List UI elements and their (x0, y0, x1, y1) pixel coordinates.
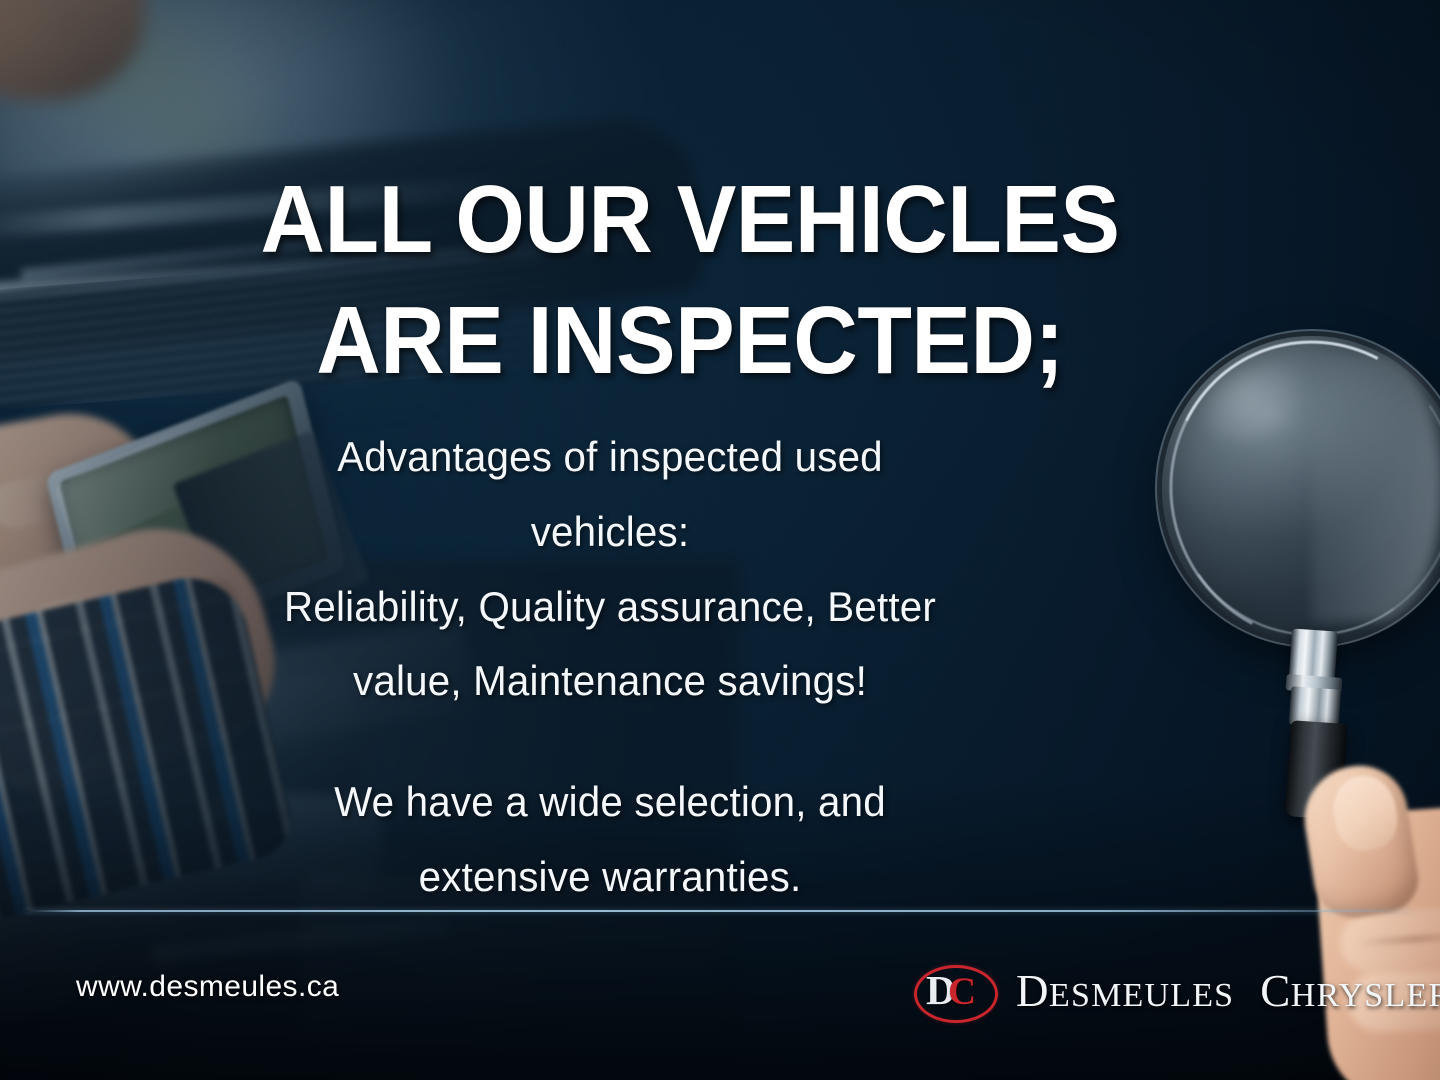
dealership-name: D ESMEULES C HRYSLER (1016, 965, 1440, 1017)
slide-content-layer: ALL OUR VEHICLES ARE INSPECTED; Advantag… (0, 0, 1440, 1080)
dc-monogram-icon: D C (912, 961, 998, 1021)
dealership-logo[interactable]: D C D ESMEULES C HRYSLER (912, 958, 1440, 1024)
footer-divider (25, 910, 1410, 912)
brand-rest-esmeules: ESMEULES (1049, 977, 1234, 1015)
slide-body-copy: Advantages of inspected used vehicles: R… (264, 420, 955, 915)
paragraph-spacer (264, 719, 955, 765)
monogram-letter-c: C (948, 972, 976, 1011)
website-url[interactable]: www.desmeules.ca (76, 970, 339, 1004)
brand-initial-d: D (1016, 965, 1049, 1017)
brand-word-chrysler: C HRYSLER (1260, 965, 1440, 1017)
page-title: ALL OUR VEHICLES ARE INSPECTED; (160, 160, 1220, 402)
brand-initial-c: C (1260, 965, 1291, 1017)
body-paragraph-benefits: Advantages of inspected used vehicles: R… (264, 420, 955, 719)
promotional-slide: ALL OUR VEHICLES ARE INSPECTED; Advantag… (0, 0, 1440, 1080)
brand-rest-hrysler: HRYSLER (1291, 977, 1440, 1015)
brand-word-desmeules: D ESMEULES (1016, 965, 1234, 1017)
body-paragraph-selection: We have a wide selection, and extensive … (264, 765, 955, 915)
